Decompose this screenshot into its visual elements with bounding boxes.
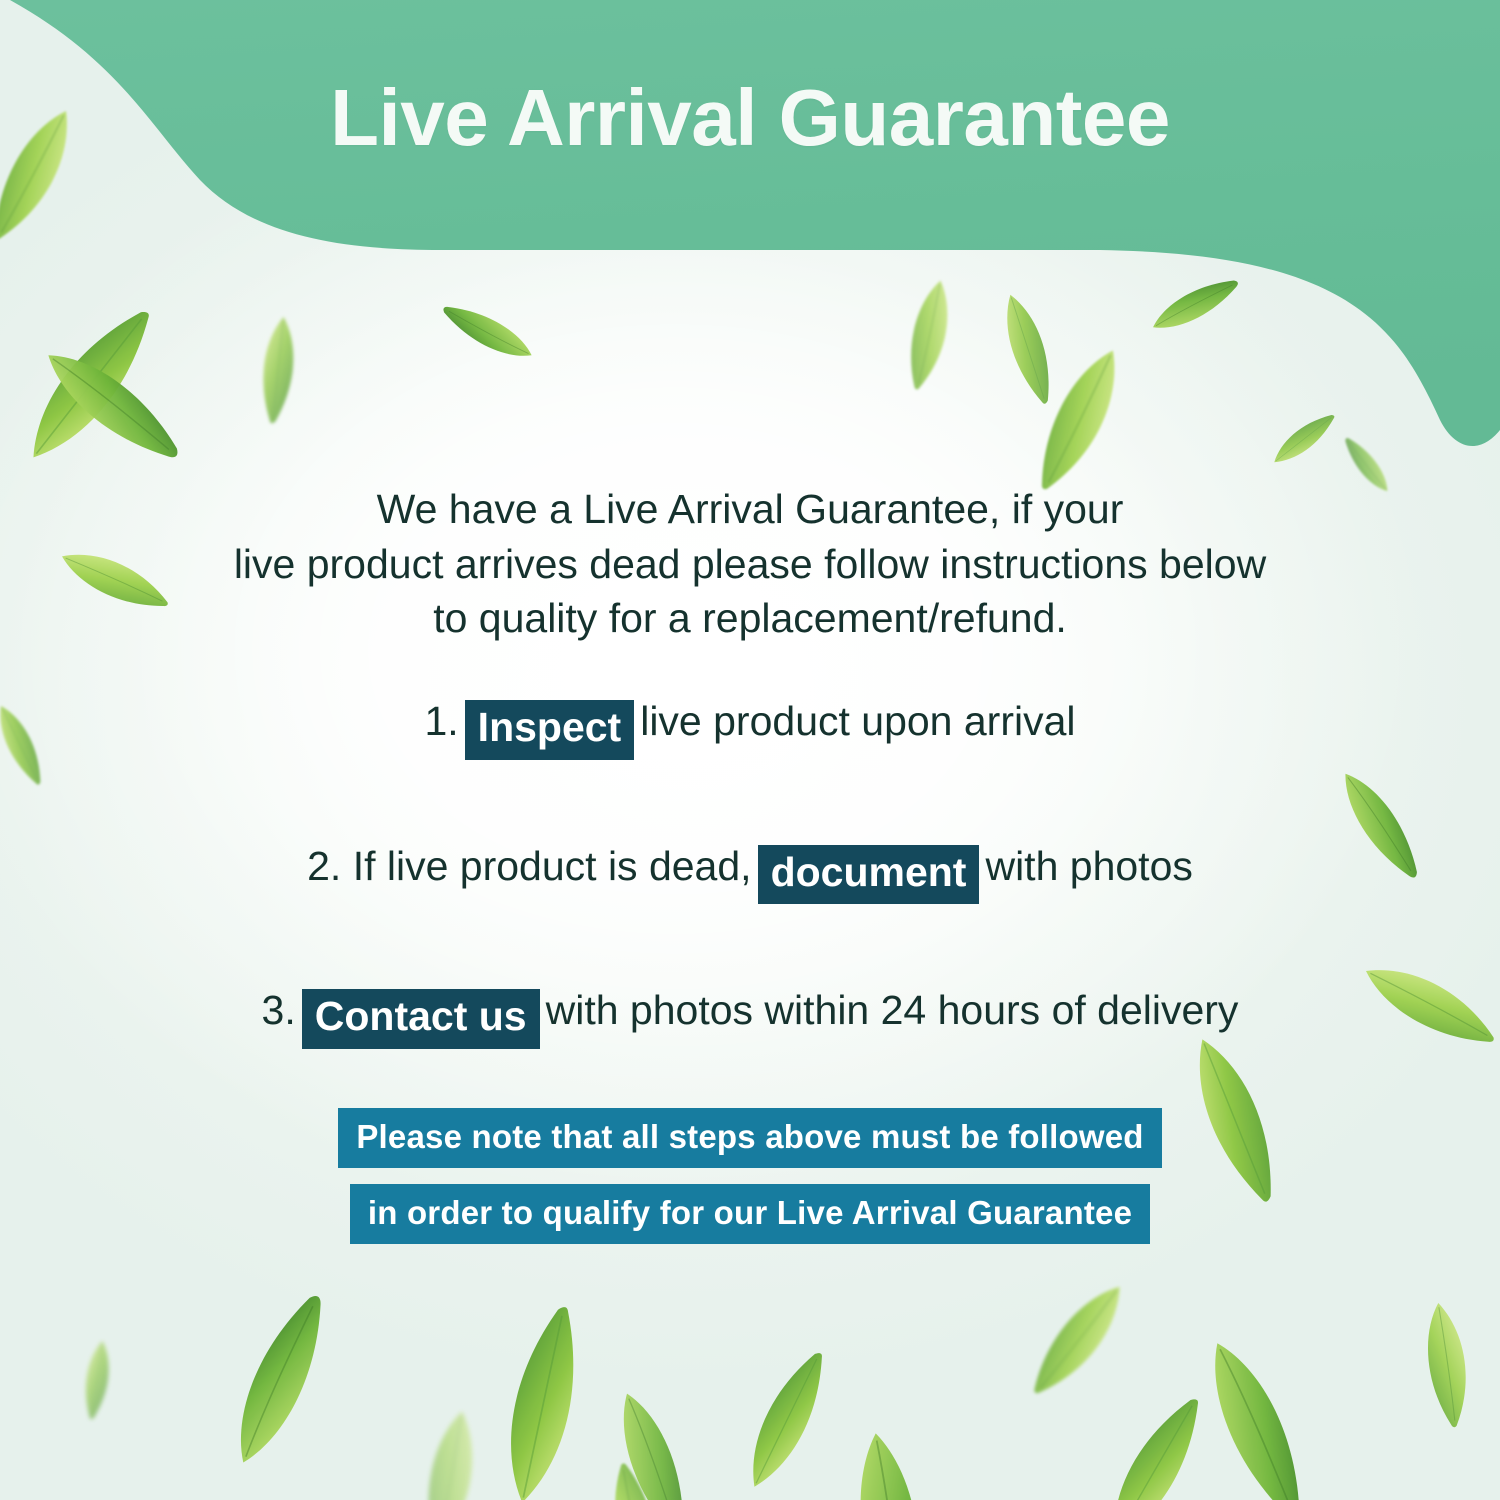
page-title: Live Arrival Guarantee — [0, 78, 1500, 158]
instruction-steps-list: 1.Inspectlive product upon arrival 2. If… — [0, 700, 1500, 1049]
intro-line-1: We have a Live Arrival Guarantee, if you… — [150, 482, 1350, 537]
footer-notes: Please note that all steps above must be… — [0, 1108, 1500, 1244]
step-3-highlight[interactable]: Contact us — [302, 989, 540, 1049]
footer-note-bar-2: in order to qualify for our Live Arrival… — [350, 1184, 1150, 1244]
intro-line-2: live product arrives dead please follow … — [150, 537, 1350, 592]
instruction-step-2: 2. If live product is dead,documentwith … — [0, 845, 1500, 905]
step-1-number: 1. — [424, 698, 458, 744]
step-1-highlight[interactable]: Inspect — [465, 700, 635, 760]
step-2-number: 2. — [307, 843, 341, 889]
instruction-step-1: 1.Inspectlive product upon arrival — [0, 700, 1500, 760]
intro-paragraph: We have a Live Arrival Guarantee, if you… — [150, 482, 1350, 646]
step-3-number: 3. — [262, 987, 296, 1033]
step-2-after-text: with photos — [985, 843, 1192, 889]
footer-note-bar-1: Please note that all steps above must be… — [338, 1108, 1161, 1168]
step-2-highlight[interactable]: document — [758, 845, 980, 905]
instruction-step-3: 3.Contact uswith photos within 24 hours … — [0, 989, 1500, 1049]
step-3-after-text: with photos within 24 hours of delivery — [546, 987, 1239, 1033]
live-arrival-guarantee-graphic: Live Arrival Guarantee We have a Live Ar… — [0, 0, 1500, 1500]
intro-line-3: to quality for a replacement/refund. — [150, 591, 1350, 646]
step-1-after-text: live product upon arrival — [640, 698, 1075, 744]
step-2-before-text: If live product is dead, — [353, 843, 752, 889]
